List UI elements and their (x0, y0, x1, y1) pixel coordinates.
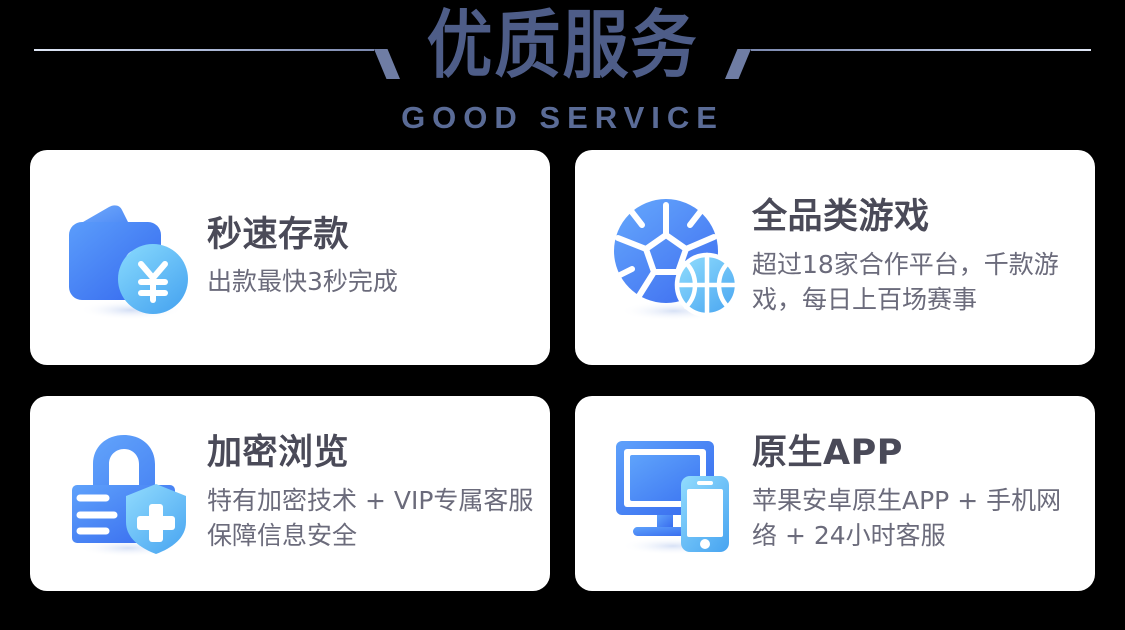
page-header: 优质服务 GOOD SERVICE (0, 0, 1125, 140)
feature-card-grid: 秒速存款 出款最快3秒完成 (30, 150, 1095, 600)
promo-page: 优质服务 GOOD SERVICE (0, 0, 1125, 630)
feature-card-deposit[interactable]: 秒速存款 出款最快3秒完成 (30, 150, 550, 365)
card-title: 加密浏览 (207, 433, 540, 473)
card-text-native-app: 原生APP 苹果安卓原生APP + 手机网络 + 24小时客服 (748, 433, 1095, 553)
decoration-slash-left (374, 49, 400, 79)
card-description: 超过18家合作平台，千款游戏，每日上百场赛事 (752, 247, 1085, 318)
card-text-encryption: 加密浏览 特有加密技术 + VIP专属客服保障信息安全 (203, 433, 550, 553)
card-description: 苹果安卓原生APP + 手机网络 + 24小时客服 (752, 483, 1085, 554)
card-text-deposit: 秒速存款 出款最快3秒完成 (203, 215, 408, 300)
decoration-line-right (751, 49, 1091, 51)
card-description: 特有加密技术 + VIP专属客服保障信息安全 (207, 483, 540, 554)
card-description: 出款最快3秒完成 (207, 264, 398, 300)
decoration-slash-right (725, 49, 751, 79)
page-title: 优质服务 (427, 9, 699, 83)
monitor-phone-icon (603, 421, 748, 566)
soccer-basketball-icon (603, 185, 748, 330)
card-text-games: 全品类游戏 超过18家合作平台，千款游戏，每日上百场赛事 (748, 197, 1095, 317)
header-decoration-right (751, 49, 1091, 50)
card-title: 原生APP (752, 433, 1085, 473)
card-title: 秒速存款 (207, 215, 398, 255)
title-row: 优质服务 (0, 0, 1125, 92)
decoration-line-left (34, 49, 374, 51)
feature-card-games[interactable]: 全品类游戏 超过18家合作平台，千款游戏，每日上百场赛事 (575, 150, 1095, 365)
feature-card-encryption[interactable]: 加密浏览 特有加密技术 + VIP专属客服保障信息安全 (30, 396, 550, 591)
lock-shield-icon (58, 421, 203, 566)
wallet-coin-icon (58, 185, 203, 330)
page-subtitle: GOOD SERVICE (401, 102, 724, 133)
feature-card-native-app[interactable]: 原生APP 苹果安卓原生APP + 手机网络 + 24小时客服 (575, 396, 1095, 591)
card-title: 全品类游戏 (752, 197, 1085, 237)
header-decoration-left (34, 49, 374, 50)
